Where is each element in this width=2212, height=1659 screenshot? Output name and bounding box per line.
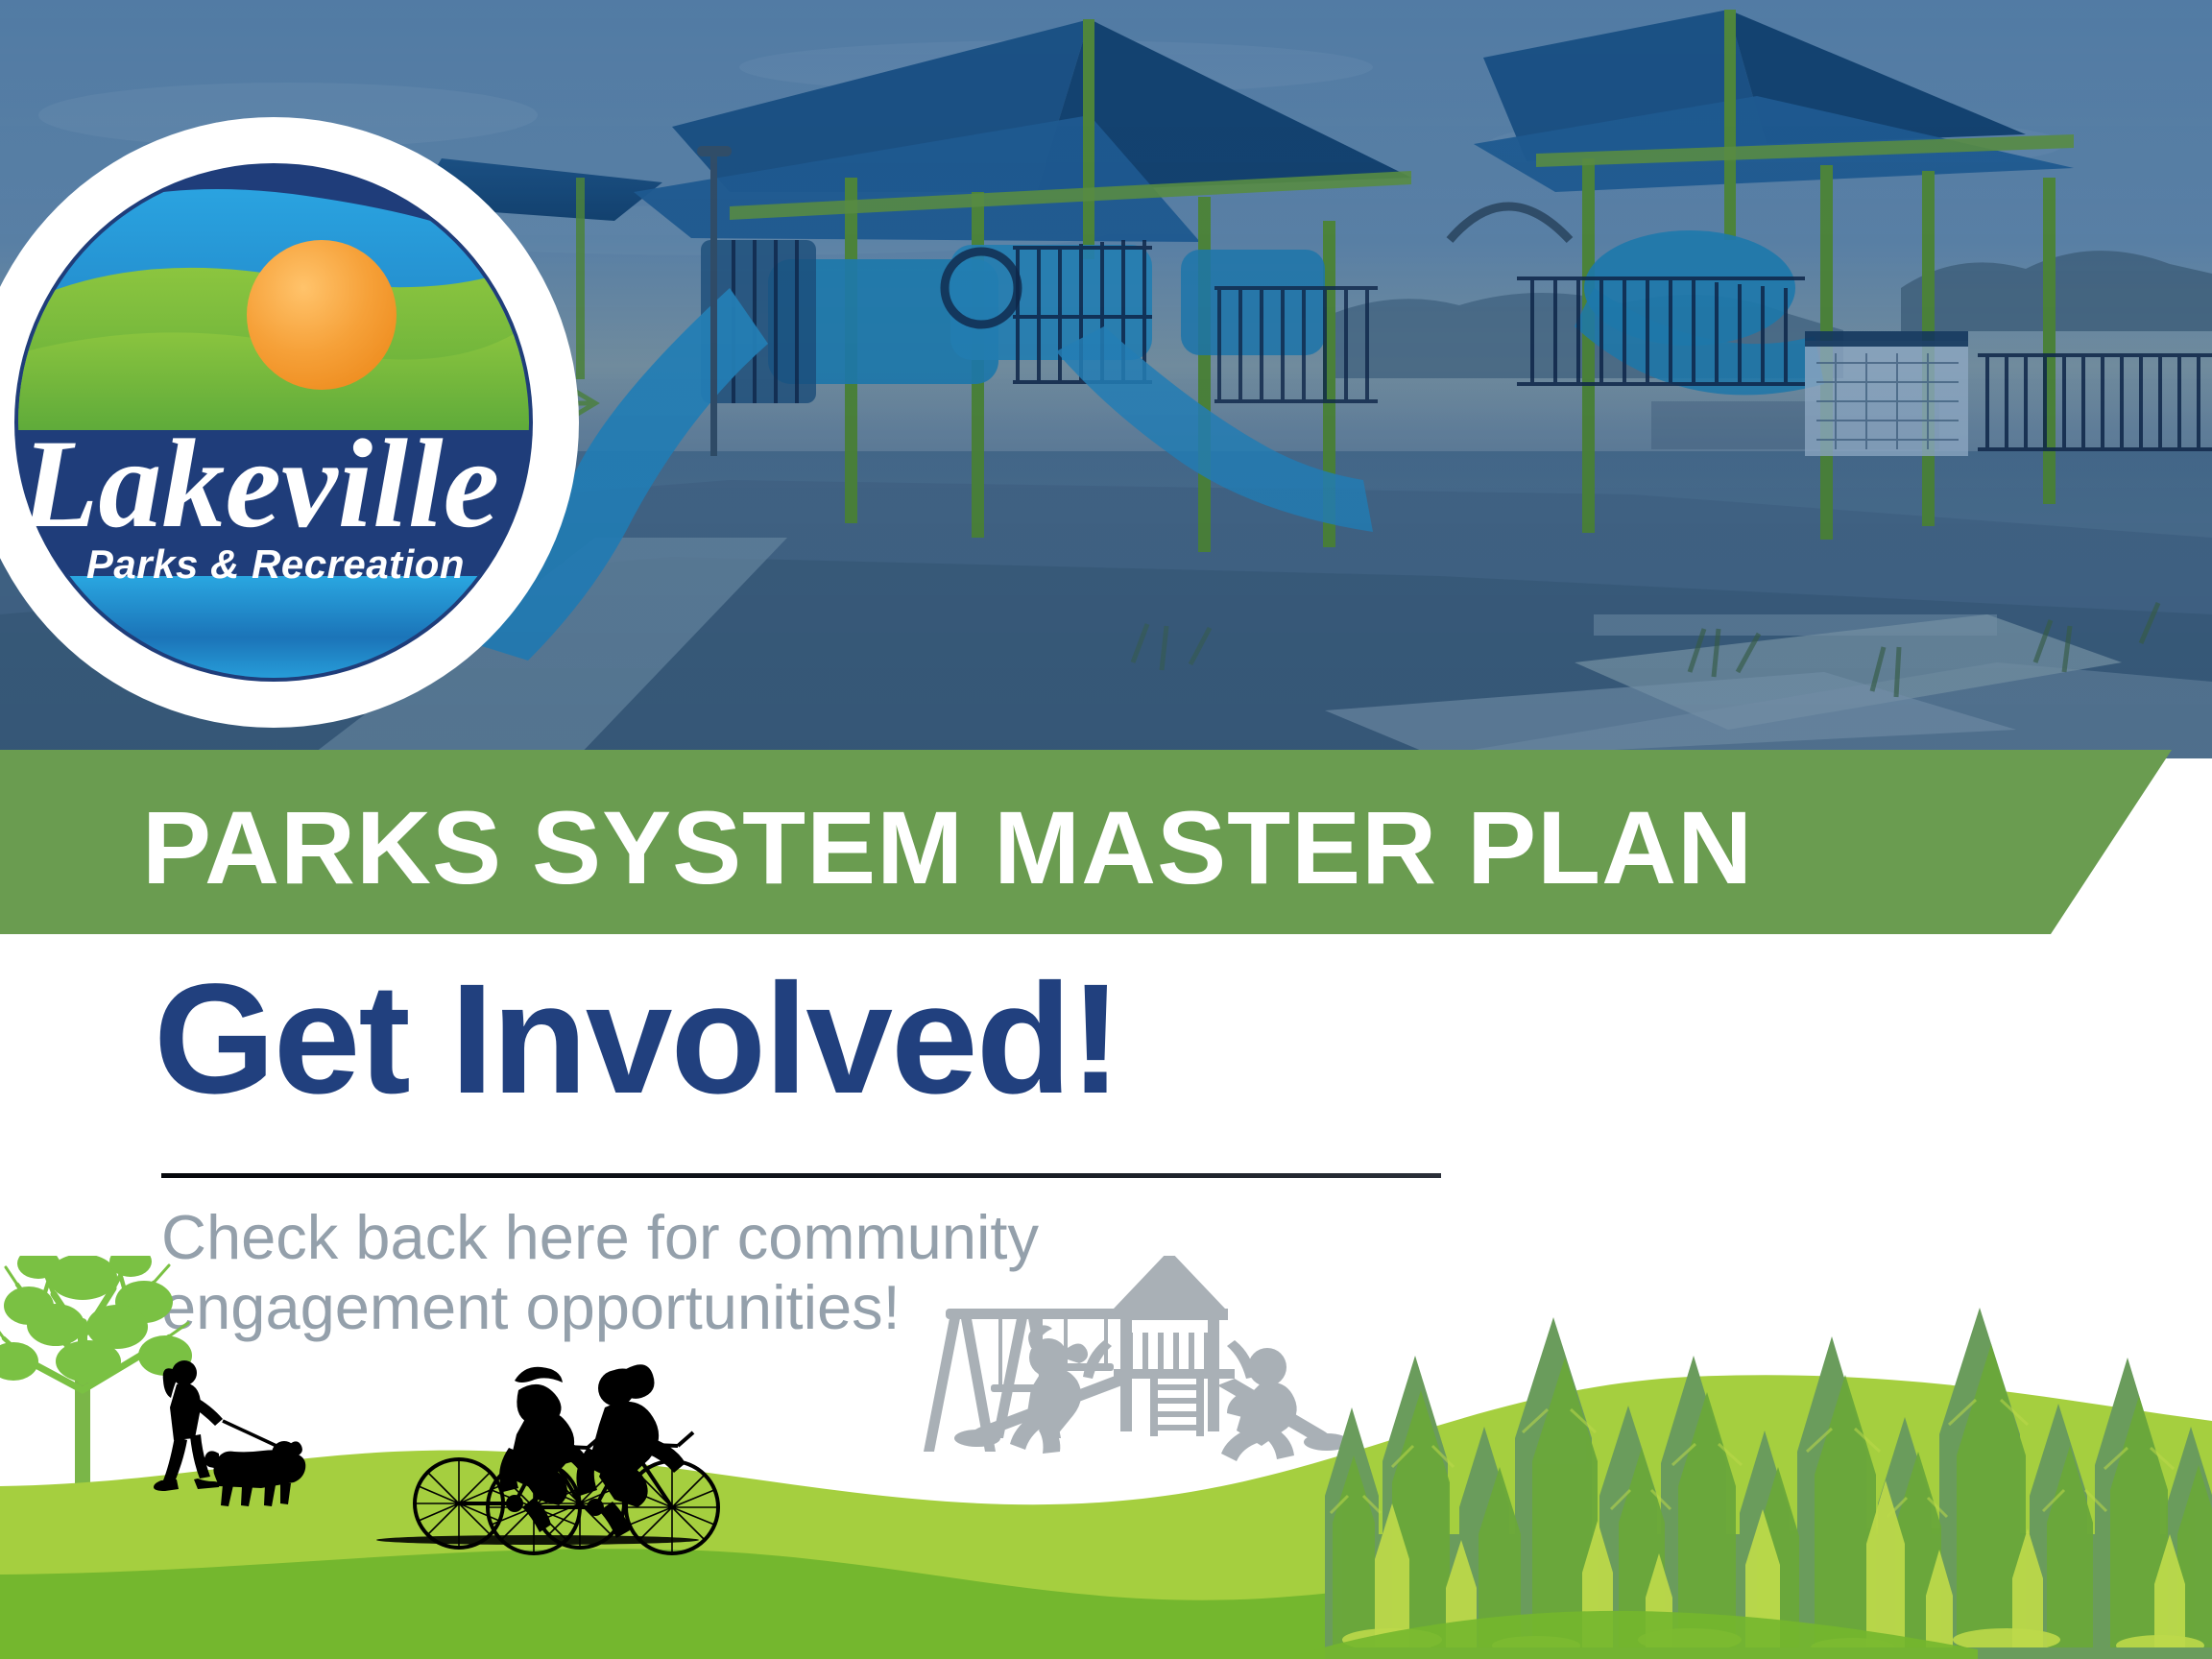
master-plan-banner: PARKS SYSTEM MASTER PLAN (0, 750, 2212, 934)
banner-title: PARKS SYSTEM MASTER PLAN (142, 756, 1753, 940)
logo-wordmark: Lakeville (20, 413, 499, 554)
dog-walker-silhouette (154, 1360, 305, 1506)
lakeville-parks-recreation-logo: Lakeville Parks & Recreation (0, 113, 581, 732)
park-scene-illustration (0, 1256, 2212, 1659)
poster-canvas: Lakeville Parks & Recreation PARKS SYSTE… (0, 0, 2212, 1659)
logo-tagline: Parks & Recreation (86, 541, 465, 587)
playground-silhouette (924, 1256, 1350, 1461)
page-title: Get Involved! (154, 960, 1120, 1117)
title-divider (161, 1173, 1441, 1178)
